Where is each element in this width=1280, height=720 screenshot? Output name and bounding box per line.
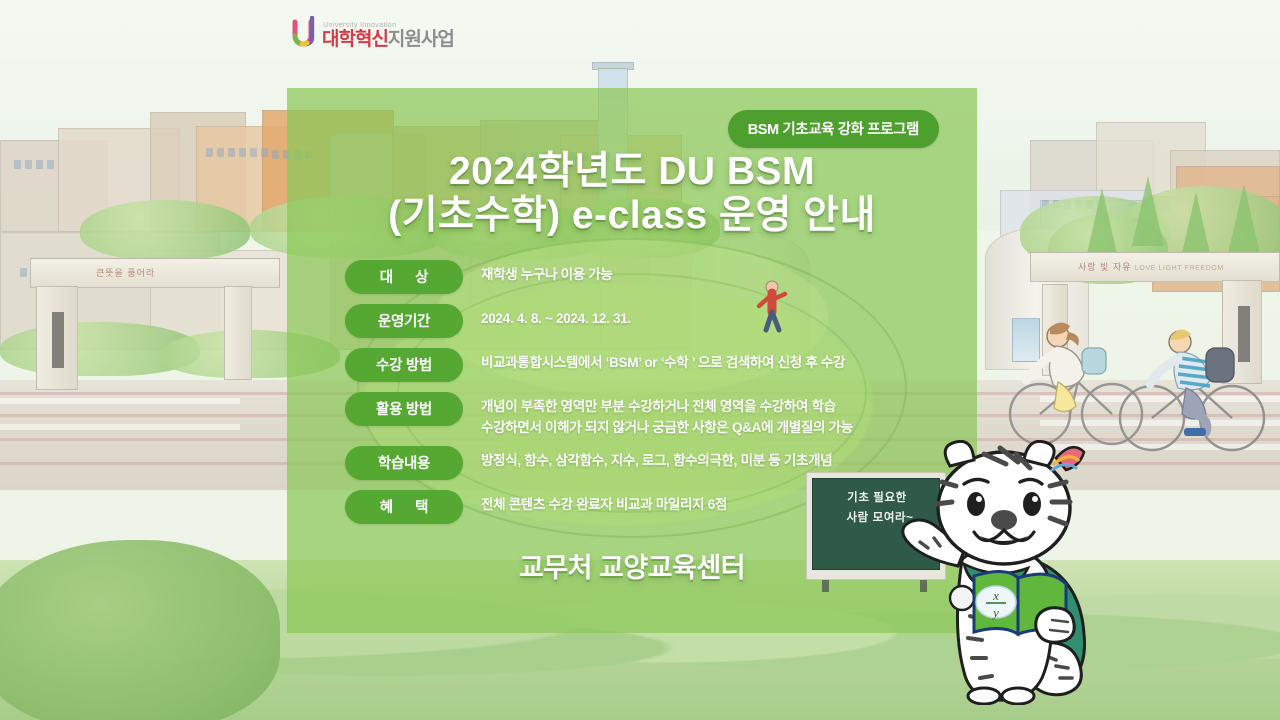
conifer-tree [1132, 176, 1164, 246]
window-row [206, 148, 268, 157]
logo-korean-secondary: 지원사업 [388, 29, 454, 50]
info-label: 운영기간 [345, 304, 463, 338]
info-label: 학습내용 [345, 446, 463, 480]
logo-korean-text: 대학혁신지원사업 [322, 30, 454, 49]
info-value: 비교과통합시스템에서 ‘BSM’ or ‘수학 ’ 으로 검색하여 신청 후 수… [481, 348, 959, 374]
info-label: 대 상 [345, 260, 463, 294]
runner-figure [752, 278, 792, 336]
foreground-bush [0, 540, 280, 720]
logo-text-block: University Innovation 대학혁신지원사업 [322, 22, 454, 50]
info-value: 재학생 누구나 이용 가능 [481, 260, 959, 286]
crosswalk-stripe [0, 398, 240, 404]
mascot-ear [945, 441, 974, 466]
mascot-eye [1023, 492, 1041, 516]
info-row: 대 상 재학생 누구나 이용 가능 [345, 260, 959, 294]
logo-mark-icon [292, 16, 318, 50]
info-value-line: 전체 콘텐츠 수강 완료자 비교과 마일리지 6점 [481, 497, 727, 512]
book-label-top: x [992, 588, 999, 603]
info-value-line: 2024. 4. 8. ~ 2024. 12. 31. [481, 311, 631, 326]
page-title: 2024학년도 DU BSM (기초수학) e-class 운영 안내 [287, 150, 977, 239]
gate-right-text-ko: 사랑 빛 자유 [1078, 262, 1131, 272]
gate-pillar [224, 286, 252, 380]
info-label: 수강 방법 [345, 348, 463, 382]
mascot-foot [1002, 688, 1034, 704]
book-label-bottom: y [991, 605, 999, 620]
info-label: 혜 택 [345, 490, 463, 524]
mascot-ear [1024, 441, 1054, 466]
info-label: 활용 방법 [345, 392, 463, 426]
gate-left-text: 큰뜻을 품어라 [96, 266, 155, 279]
info-value: 방정식, 함수, 삼각함수, 지수, 로그, 함수의극한, 미분 등 기초개념 [481, 446, 959, 472]
info-value: 2024. 4. 8. ~ 2024. 12. 31. [481, 304, 959, 330]
logo-university-innovation: University Innovation 대학혁신지원사업 [292, 16, 454, 50]
logo-english-text: University Innovation [323, 22, 454, 29]
mascot-nose [991, 510, 1017, 530]
blackboard-line-1: 기초 필요한 [847, 492, 907, 504]
program-badge: BSM 기초교육 강화 프로그램 [728, 110, 939, 148]
info-value-line: 방정식, 함수, 삼각함수, 지수, 로그, 함수의극한, 미분 등 기초개념 [481, 453, 832, 468]
logo-korean-primary: 대학혁신 [322, 29, 388, 50]
info-row: 활용 방법 개념이 부족한 영역만 부분 수강하거나 전체 영역을 수강하여 학… [345, 392, 959, 438]
cyclists-illustration [1000, 296, 1280, 456]
gate-vertical-sign [52, 312, 64, 368]
tree-mass [80, 200, 250, 260]
mascot-medal [950, 586, 974, 610]
mascot-foot [968, 688, 1000, 704]
conifer-tree [1228, 184, 1260, 254]
info-value-line: 개념이 부족한 영역만 부분 수강하거나 전체 영역을 수강하여 학습 [481, 399, 836, 414]
gate-right-text-en: LOVE LIGHT FREEDOM [1135, 265, 1224, 272]
poster-canvas: 큰뜻을 품어라 사랑 빛 자유 LOVE LIGHT FREEDOM [0, 0, 1280, 720]
mascot-head [938, 452, 1070, 564]
title-line-1: 2024학년도 DU BSM [449, 150, 815, 193]
info-row: 수강 방법 비교과통합시스템에서 ‘BSM’ or ‘수학 ’ 으로 검색하여 … [345, 348, 959, 382]
info-value-line-2: 수강하면서 이해가 되지 않거나 궁금한 사항은 Q&A에 개별질의 가능 [481, 418, 959, 439]
blackboard-leg [822, 580, 829, 592]
white-tiger-mascot: x y [900, 440, 1140, 705]
conifer-tree [1086, 188, 1118, 258]
mascot-eye [967, 492, 985, 516]
title-line-2: (기초수학) e-class 운영 안내 [287, 194, 977, 238]
info-value-line: 재학생 누구나 이용 가능 [481, 267, 613, 282]
info-row: 운영기간 2024. 4. 8. ~ 2024. 12. 31. [345, 304, 959, 338]
mascot-paw [1036, 608, 1074, 642]
window-row [14, 160, 54, 169]
gate-right-text: 사랑 빛 자유 LOVE LIGHT FREEDOM [1078, 260, 1224, 273]
info-value: 개념이 부족한 영역만 부분 수강하거나 전체 영역을 수강하여 학습 수강하면… [481, 392, 959, 438]
info-value-line: 비교과통합시스템에서 ‘BSM’ or ‘수학 ’ 으로 검색하여 신청 후 수… [481, 355, 845, 370]
crosswalk-stripe [0, 424, 240, 430]
